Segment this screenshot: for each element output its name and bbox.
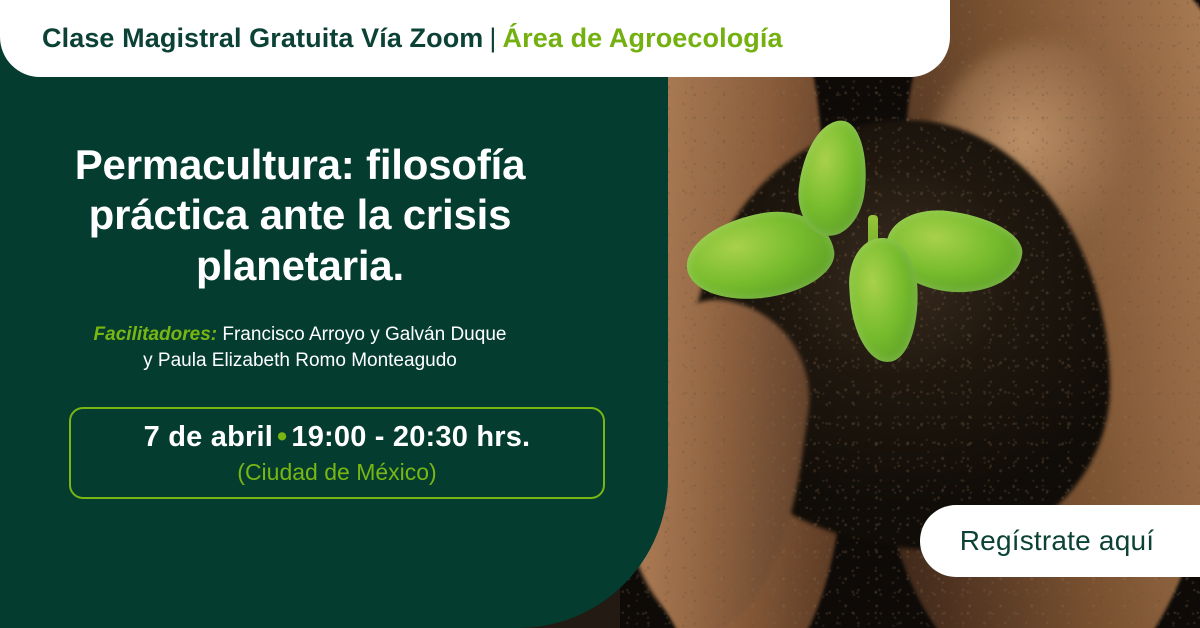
register-button[interactable]: Regístrate aquí [920, 505, 1200, 577]
facilitators-block: Facilitadores: Francisco Arroyo y Galván… [0, 322, 600, 373]
header-main-label: Clase Magistral Gratuita Vía Zoom [42, 23, 483, 53]
facilitator-name-line-2: y Paula Elizabeth Romo Monteagudo [0, 348, 600, 374]
event-date: 7 de abril [144, 421, 273, 453]
event-time: 19:00 - 20:30 hrs. [291, 421, 530, 453]
seedling-leaf-top [794, 117, 872, 239]
facilitator-name-line-1: Francisco Arroyo y Galván Duque [222, 324, 506, 345]
header-accent-label: Área de Agroecología [503, 23, 783, 53]
register-button-label: Regístrate aquí [960, 525, 1160, 557]
main-content: Permacultura: filosofía práctica ante la… [0, 77, 668, 628]
header-title: Clase Magistral Gratuita Vía Zoom|Área d… [42, 23, 783, 54]
schedule-box: 7 de abril•19:00 - 20:30 hrs. (Ciudad de… [69, 407, 605, 499]
facilitators-label: Facilitadores: [94, 324, 218, 345]
header-separator: | [483, 23, 502, 53]
page-title: Permacultura: filosofía práctica ante la… [0, 140, 600, 291]
header-bar: Clase Magistral Gratuita Vía Zoom|Área d… [0, 0, 950, 77]
event-city: (Ciudad de México) [237, 459, 436, 486]
promo-banner: Clase Magistral Gratuita Vía Zoom|Área d… [0, 0, 1200, 628]
schedule-line: 7 de abril•19:00 - 20:30 hrs. [144, 421, 531, 454]
bullet-separator-icon: • [273, 421, 291, 453]
